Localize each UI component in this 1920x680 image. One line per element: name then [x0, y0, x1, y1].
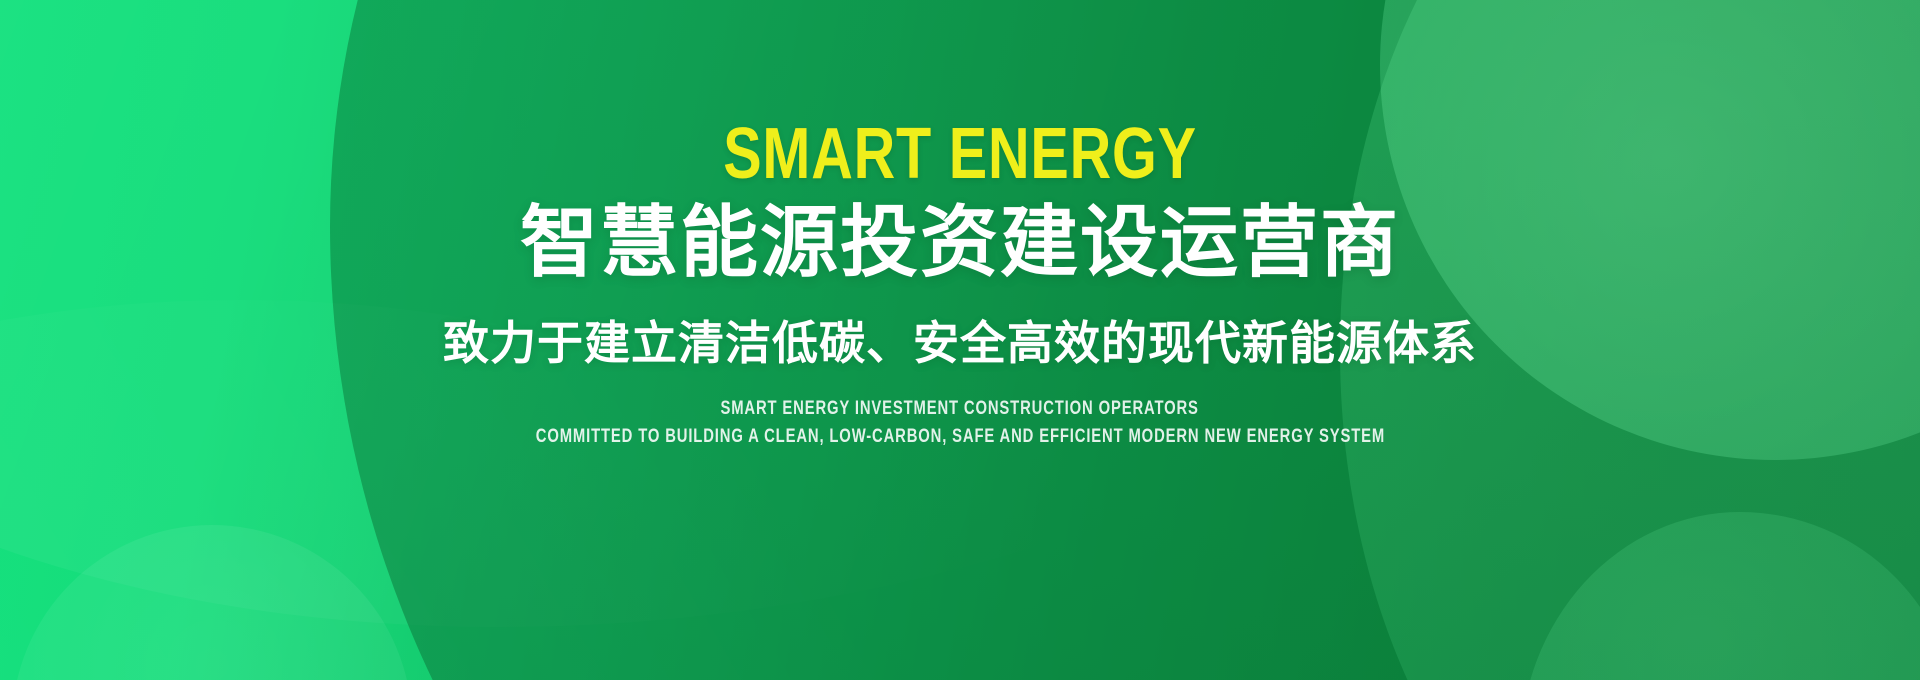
headline-chinese: 智慧能源投资建设运营商: [520, 202, 1400, 284]
subtext-english-line-1: SMART ENERGY INVESTMENT CONSTRUCTION OPE…: [721, 396, 1199, 422]
headline-english: SMART ENERGY: [723, 118, 1197, 190]
subtext-english-line-2: COMMITTED TO BUILDING A CLEAN, LOW-CARBO…: [535, 424, 1384, 450]
banner-text-block: SMART ENERGY 智慧能源投资建设运营商 致力于建立清洁低碳、安全高效的…: [0, 0, 1920, 680]
smart-energy-banner: SMART ENERGY 智慧能源投资建设运营商 致力于建立清洁低碳、安全高效的…: [0, 0, 1920, 680]
subheadline-chinese: 致力于建立清洁低碳、安全高效的现代新能源体系: [443, 318, 1477, 369]
